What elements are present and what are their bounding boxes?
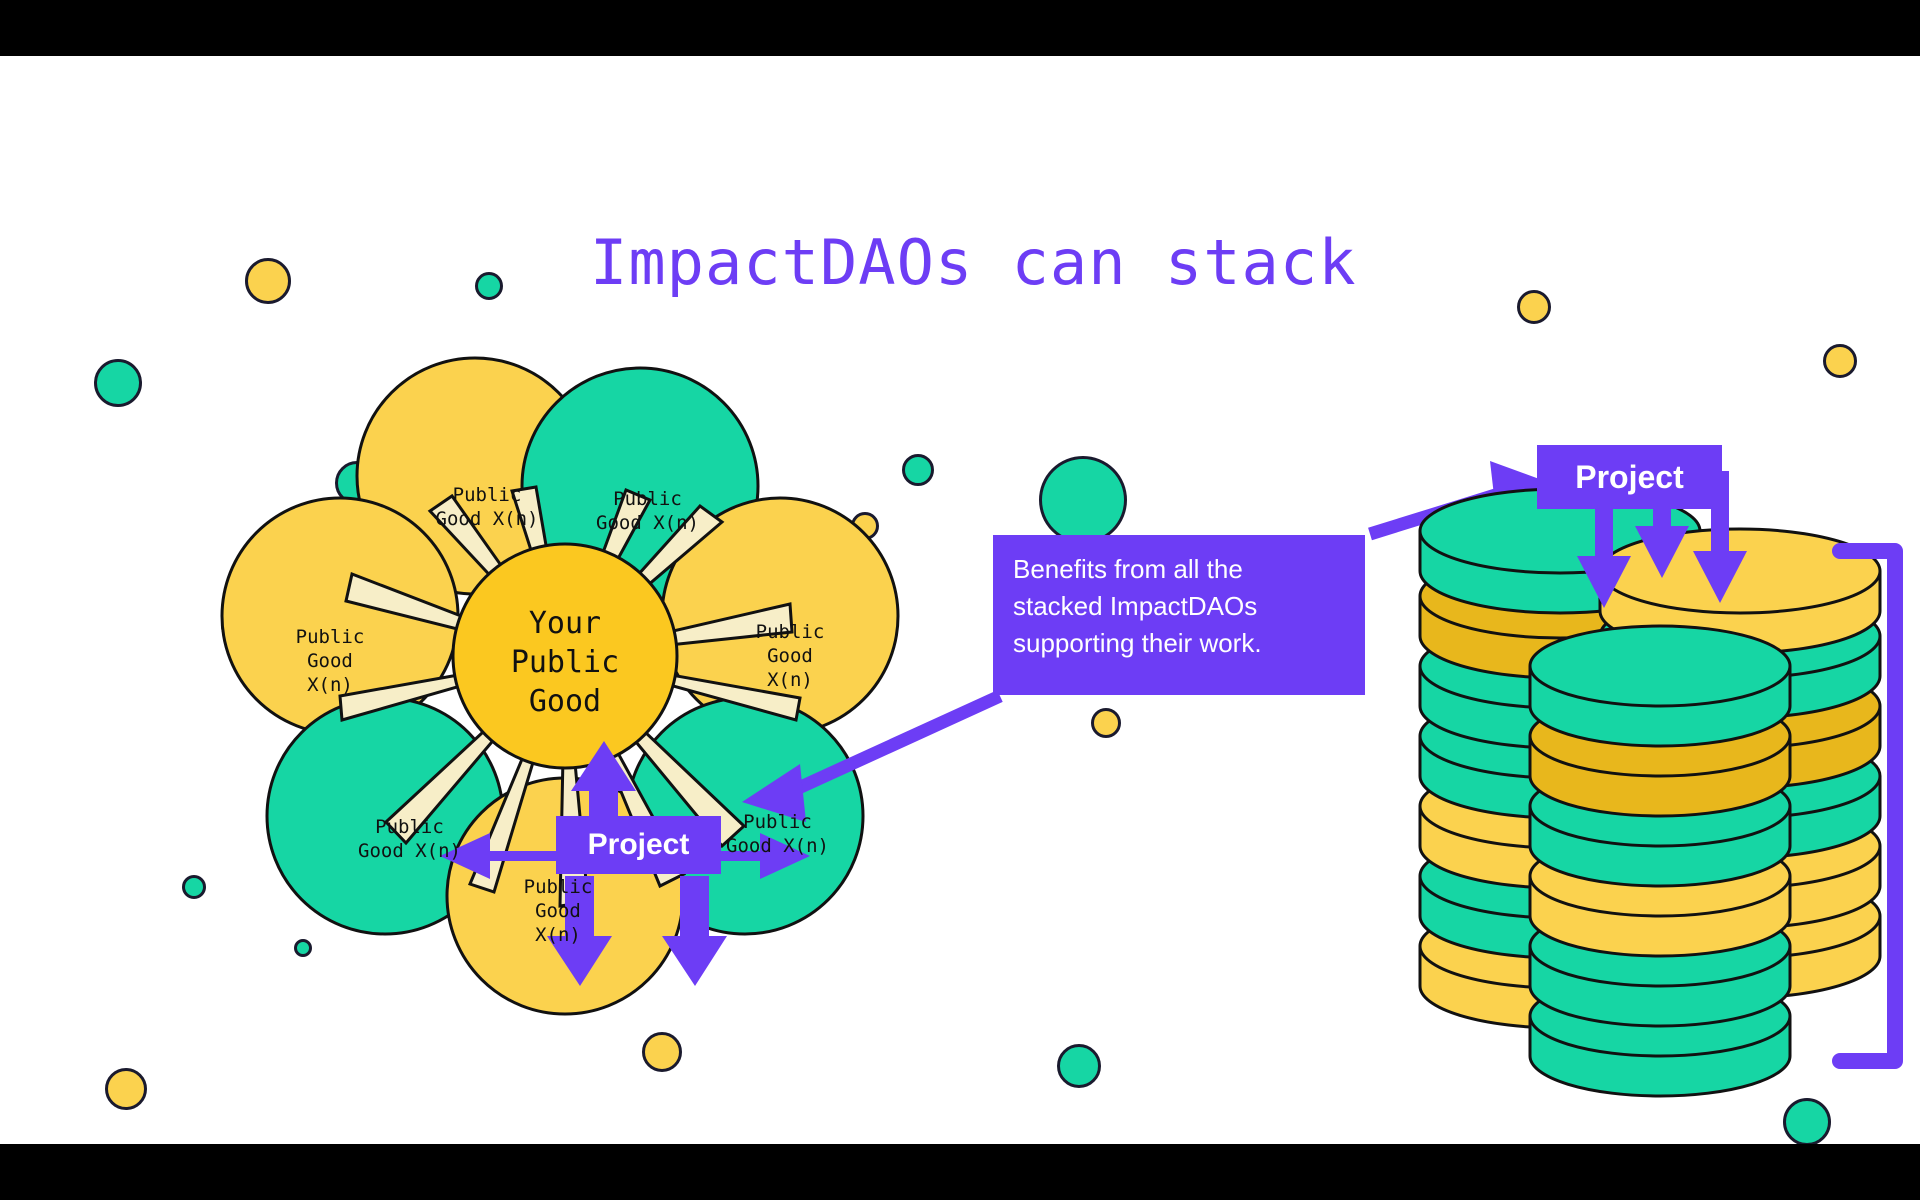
slide-stage: ImpactDAOs can stack [0,0,1920,1200]
petal-label-bottom-left: Public Good X(n) [332,816,487,864]
petal-label-bottom: Public Good X(n) [498,876,618,947]
flower-center-label: Your Public Good [455,604,675,721]
flower-graphic [0,56,1920,1144]
callout-line-1: Benefits from all the [1013,551,1345,588]
petal-label-left: Public Good X(n) [270,626,390,697]
petal-label-top-left: Public Good X(n) [412,484,562,532]
coin-stack [1420,489,1880,1096]
project-badge-stack[interactable]: Project [1537,445,1722,509]
petal-label-bottom-right: Public Good X(n) [700,811,855,859]
callout-box: Benefits from all the stacked ImpactDAOs… [993,535,1365,695]
coin-column-center [1530,626,1790,1096]
petal-label-top-right: Public Good X(n) [570,488,725,536]
project-badge-flower[interactable]: Project [556,816,721,874]
callout-line-3: supporting their work. [1013,625,1345,662]
slide-canvas: ImpactDAOs can stack [0,56,1920,1144]
callout-line-2: stacked ImpactDAOs [1013,588,1345,625]
petal-label-right: Public Good X(n) [730,621,850,692]
